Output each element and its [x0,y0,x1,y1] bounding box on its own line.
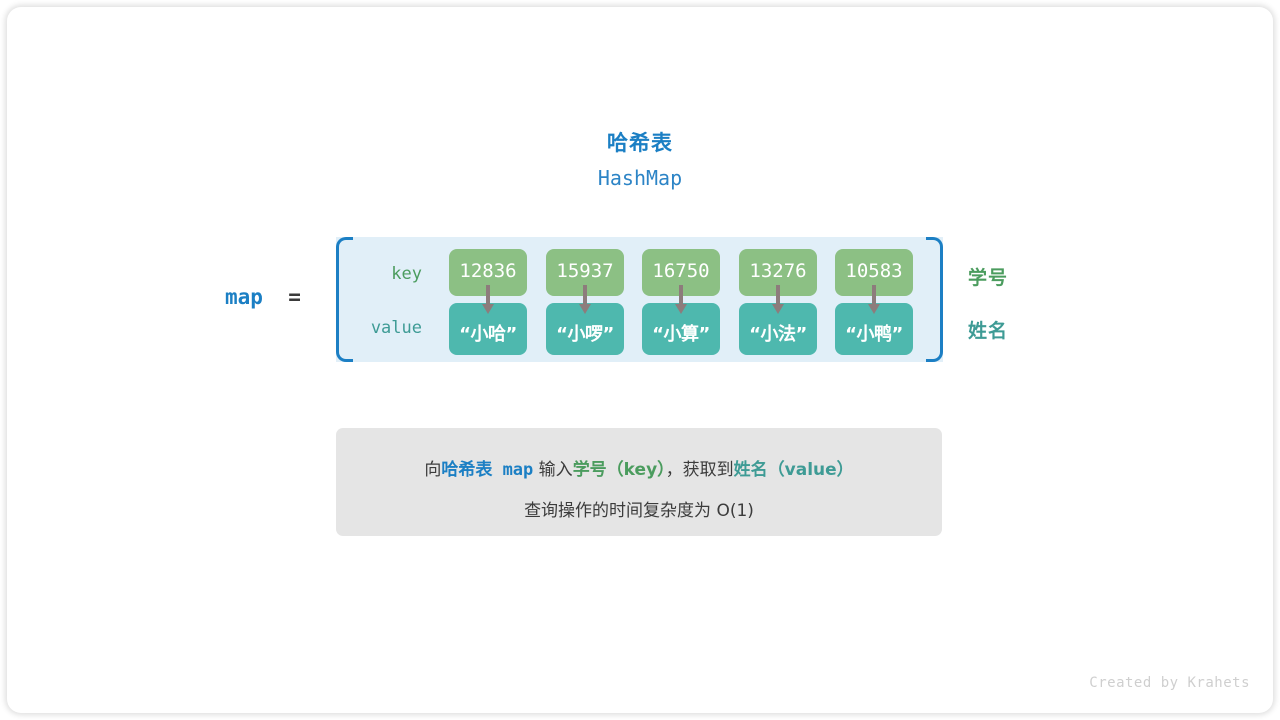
caption-seg-5: ，获取到 [666,460,734,480]
arrow-down-icon [481,285,495,315]
page-title: 哈希表 [0,128,1280,158]
arrow-down-icon [674,285,688,315]
legend-value-label: 姓名 [968,316,1008,343]
variable-name: map [225,285,263,309]
caption-seg-key: 学号（key） [573,460,666,480]
row-label-value: value [352,317,422,339]
arrow-down-icon [771,285,785,315]
caption-seg-3: 输入 [533,460,572,480]
title-block: 哈希表 HashMap [0,128,1280,194]
caption-seg-1: 向 [424,460,441,480]
bracket-right-icon [926,237,943,362]
page-subtitle: HashMap [0,162,1280,194]
equals-sign: = [288,285,301,309]
diagram-canvas: 哈希表 HashMap map = key value 12836 15937 … [0,0,1280,720]
caption-box: 向哈希表 map 输入学号（key），获取到姓名（value） 查询操作的时间复… [336,428,942,536]
caption-line-2: 查询操作的时间复杂度为 O(1) [336,496,942,521]
footer-credit: Created by Krahets [1089,675,1250,691]
arrow-down-icon [867,285,881,315]
arrow-down-icon [578,285,592,315]
bracket-left-icon [336,237,353,362]
caption-seg-hashmap: 哈希表 map [441,460,533,480]
caption-seg-value: 姓名（value） [734,460,854,480]
caption-line-1: 向哈希表 map 输入学号（key），获取到姓名（value） [336,455,942,480]
variable-label: map = [225,285,301,309]
row-label-key: key [352,263,422,285]
legend-key-label: 学号 [968,263,1008,290]
